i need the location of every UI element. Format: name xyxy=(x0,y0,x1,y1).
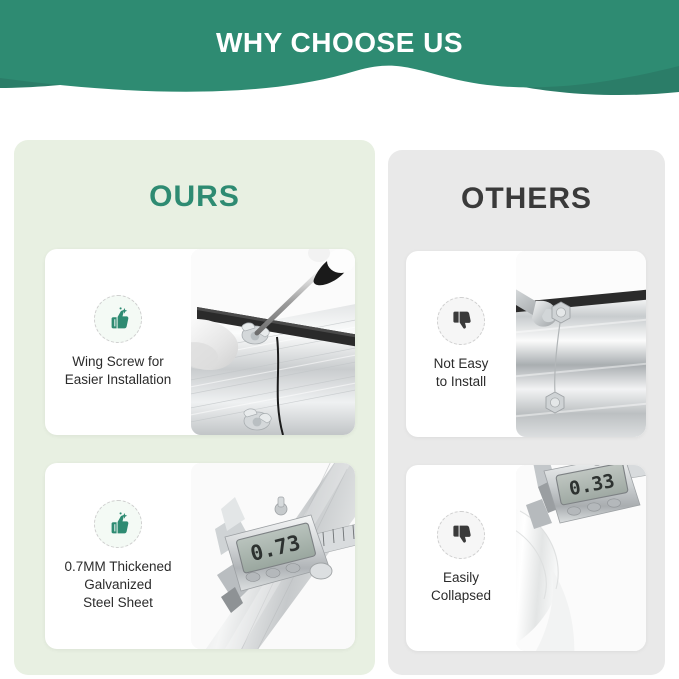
ours-card-thickness[interactable]: 0.7MM Thickened Galvanized Steel Sheet xyxy=(45,463,355,649)
panel-ours-title: OURS xyxy=(14,180,375,214)
others-card-2-text-block: Easily Collapsed xyxy=(406,465,516,651)
ours-card-2-caption: 0.7MM Thickened Galvanized Steel Sheet xyxy=(64,558,171,613)
thumbs-down-icon xyxy=(437,297,485,345)
page-header: WHY CHOOSE US xyxy=(0,0,679,108)
others-card-1-text-block: Not Easy to Install xyxy=(406,251,516,437)
comparison-section: OURS Wing Screw for Easier Installation xyxy=(0,108,679,679)
others-card-not-easy-install[interactable]: Not Easy to Install xyxy=(406,251,646,437)
digital-caliper-measuring-thin-sheet-photo: 0.33 xyxy=(516,465,646,651)
ours-card-1-caption: Wing Screw for Easier Installation xyxy=(65,353,172,389)
wrench-hex-bolt-shiny-duct-photo xyxy=(516,251,646,437)
panel-ours: OURS Wing Screw for Easier Installation xyxy=(14,140,375,675)
hex-bolt-upper xyxy=(552,302,570,323)
hex-bolt-lower xyxy=(546,392,564,413)
ours-card-wing-screw[interactable]: Wing Screw for Easier Installation xyxy=(45,249,355,435)
screwdriver-wing-screw-galvanized-duct-photo xyxy=(191,249,355,435)
digital-caliper-measuring-steel-sheet-photo: 0.73 xyxy=(191,463,355,649)
others-card-2-caption: Easily Collapsed xyxy=(431,569,491,605)
thumbs-down-icon xyxy=(437,511,485,559)
ours-card-2-text-block: 0.7MM Thickened Galvanized Steel Sheet xyxy=(45,463,191,649)
thumbs-up-sparkle-icon xyxy=(94,295,142,343)
page-title: WHY CHOOSE US xyxy=(0,27,679,59)
others-card-1-caption: Not Easy to Install xyxy=(434,355,489,391)
ours-card-1-text-block: Wing Screw for Easier Installation xyxy=(45,249,191,435)
panel-others: OTHERS Not Easy to Install xyxy=(388,150,665,675)
thumbs-up-sparkle-icon xyxy=(94,500,142,548)
panel-others-title: OTHERS xyxy=(388,182,665,216)
others-card-easily-collapsed[interactable]: Easily Collapsed xyxy=(406,465,646,651)
